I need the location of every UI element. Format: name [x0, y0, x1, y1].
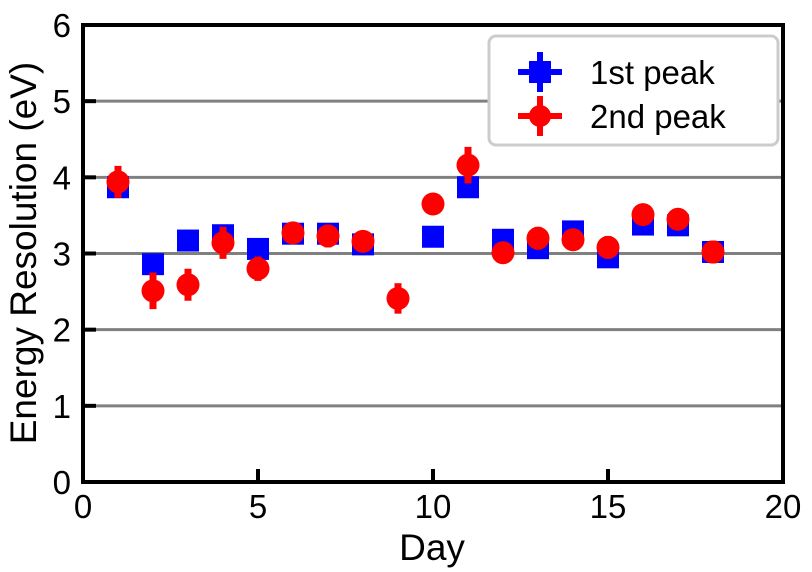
data-point-circle [422, 192, 445, 215]
y-tick-label-1: 1 [53, 388, 71, 425]
data-point-circle [142, 279, 165, 302]
data-point-circle [562, 228, 585, 251]
legend-label: 1st peak [590, 54, 715, 91]
x-tick-label-0: 0 [74, 488, 92, 525]
data-point-square [177, 230, 199, 252]
chart-figure: 05101520 0123456 1st peak2nd peak Day En… [0, 0, 812, 572]
y-tick-label-6: 6 [53, 7, 71, 44]
data-point-circle [457, 154, 480, 177]
data-point-circle [107, 170, 130, 193]
data-point-circle [702, 240, 725, 263]
y-tick-label-3: 3 [53, 236, 71, 273]
data-point-square [422, 226, 444, 248]
data-point-circle [317, 224, 340, 247]
data-point-circle [282, 221, 305, 244]
y-tick-label-4: 4 [53, 159, 71, 196]
x-tick-label-15: 15 [590, 488, 627, 525]
data-point-circle [597, 236, 620, 259]
y-axis-title: Energy Resolution (eV) [3, 62, 44, 445]
legend-marker-circle [529, 105, 551, 127]
data-point-circle [632, 203, 655, 226]
data-point-circle [527, 227, 550, 250]
x-tick-label-10: 10 [415, 488, 452, 525]
y-tick-label-5: 5 [53, 83, 71, 120]
data-point-circle [247, 257, 270, 280]
energy-resolution-scatter-plot: 05101520 0123456 1st peak2nd peak Day En… [0, 0, 812, 572]
chart-legend: 1st peak2nd peak [489, 36, 778, 145]
data-point-circle [667, 208, 690, 231]
x-axis-title: Day [399, 527, 465, 568]
data-point-circle [177, 273, 200, 296]
x-tick-label-5: 5 [249, 488, 267, 525]
legend-label: 2nd peak [590, 98, 726, 135]
data-point-circle [212, 231, 235, 254]
data-point-circle [387, 287, 410, 310]
y-tick-label-0: 0 [53, 464, 71, 501]
legend-marker-square [529, 61, 551, 83]
y-tick-label-2: 2 [53, 312, 71, 349]
x-tick-label-20: 20 [765, 488, 802, 525]
data-point-square [142, 253, 164, 275]
data-point-circle [492, 241, 515, 264]
data-point-circle [352, 230, 375, 253]
